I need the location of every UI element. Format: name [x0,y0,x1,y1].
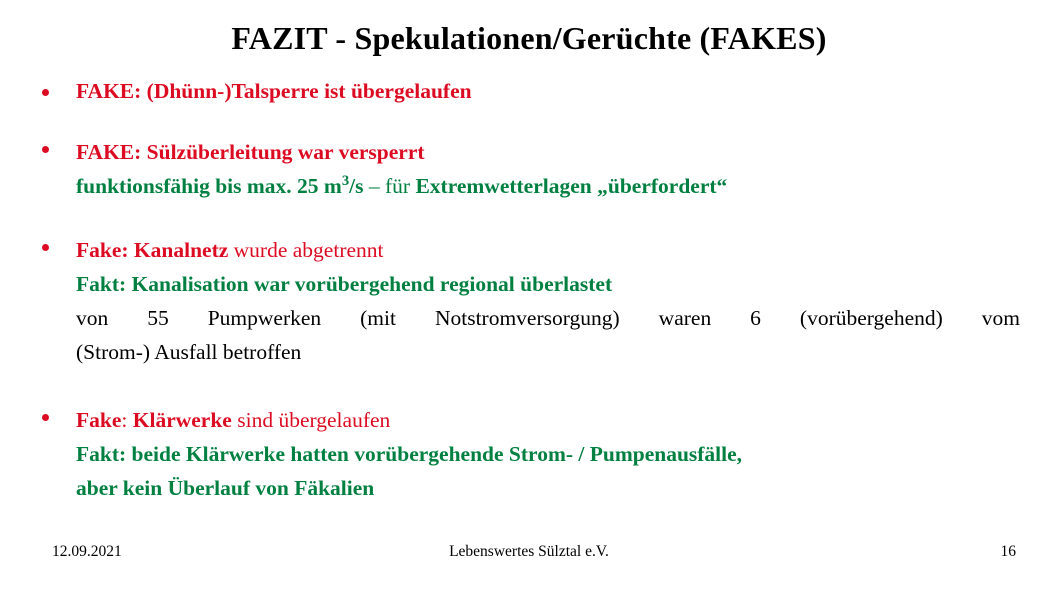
bullet-4-line-3: aber kein Überlauf von Fäkalien [76,471,1018,505]
bullet-3-line-1: Fake: Kanalnetz wurde abgetrennt [76,233,1018,267]
bullet-3-line-1-seg-2: wurde abgetrennt [234,238,384,262]
bullet-4-line-1-seg-4: sind übergelaufen [237,408,390,432]
bullet-dot-icon [42,414,49,421]
bullet-3-line-2: Fakt: Kanalisation war vorübergehend reg… [76,267,1018,301]
bullet-1-line-1: FAKE: (Dhünn-)Talsperre ist übergelaufen [76,78,1018,105]
bullet-4-line-1-seg-2: : [121,408,132,432]
bullet-dot-icon [42,89,49,96]
bullet-2-line-2-seg-5: Extremwetterlagen „überfordert“ [415,174,727,198]
bullet-3-line-4-seg-1: (Strom-) Ausfall betroffen [76,340,301,364]
bullet-2-line-1-seg-1: FAKE: Sülzüberleitung war versperrt [76,140,425,164]
spacer-3 [28,383,1018,403]
footer-page-number: 16 [1001,543,1017,561]
slide-body: FAKE: (Dhünn-)Talsperre ist übergelaufen… [28,78,1018,505]
bullet-item-2: FAKE: Sülzüberleitung war versperrt funk… [28,135,1018,203]
bullet-2-line-2-seg-3: /s [349,174,369,198]
bullet-1-line-1-seg-1: FAKE: (Dhünn-)Talsperre ist übergelaufen [76,79,472,103]
bullet-2-line-2: funktionsfähig bis max. 25 m3/s – für Ex… [76,169,1018,203]
bullet-4-line-3-seg-1: aber kein Überlauf von Fäkalien [76,476,374,500]
bullet-dot-icon [42,244,49,251]
bullet-3-line-3-seg-1: von 55 Pumpwerken (mit Notstromversorgun… [76,306,1020,330]
bullet-2-line-2-seg-1: funktionsfähig bis max. 25 m [76,174,342,198]
page-title: FAZIT - Spekulationen/Gerüchte (FAKES) [0,20,1058,57]
bullet-3-line-2-seg-1: Fakt: Kanalisation war vorübergehend reg… [76,272,612,296]
bullet-3-line-1-seg-1: Fake: Kanalnetz [76,238,234,262]
bullet-item-4: Fake: Klärwerke sind übergelaufen Fakt: … [28,403,1018,505]
bullet-3-line-3: von 55 Pumpwerken (mit Notstromversorgun… [76,301,1020,335]
bullet-2-line-1: FAKE: Sülzüberleitung war versperrt [76,135,1018,169]
bullet-4-line-2: Fakt: beide Klärwerke hatten vorübergehe… [76,437,1018,471]
bullet-dot-icon [42,146,49,153]
bullet-4-line-2-seg-1: Fakt: beide Klärwerke hatten vorübergehe… [76,442,742,466]
slide-footer: 12.09.2021 Lebenswertes Sülztal e.V. 16 [0,543,1058,565]
bullet-4-line-1: Fake: Klärwerke sind übergelaufen [76,403,1018,437]
bullet-item-3: Fake: Kanalnetz wurde abgetrennt Fakt: K… [28,233,1018,369]
presentation-slide: FAZIT - Spekulationen/Gerüchte (FAKES) F… [0,0,1058,595]
bullet-4-line-1-seg-3: Klärwerke [133,408,237,432]
spacer-2 [28,217,1018,233]
bullet-4-line-1-seg-1: Fake [76,408,121,432]
bullet-2-line-2-seg-4: – für [369,174,416,198]
spacer-1 [28,119,1018,135]
bullet-3-line-4: (Strom-) Ausfall betroffen [76,335,1020,369]
bullet-item-1: FAKE: (Dhünn-)Talsperre ist übergelaufen [28,78,1018,105]
footer-organization: Lebenswertes Sülztal e.V. [0,543,1058,561]
